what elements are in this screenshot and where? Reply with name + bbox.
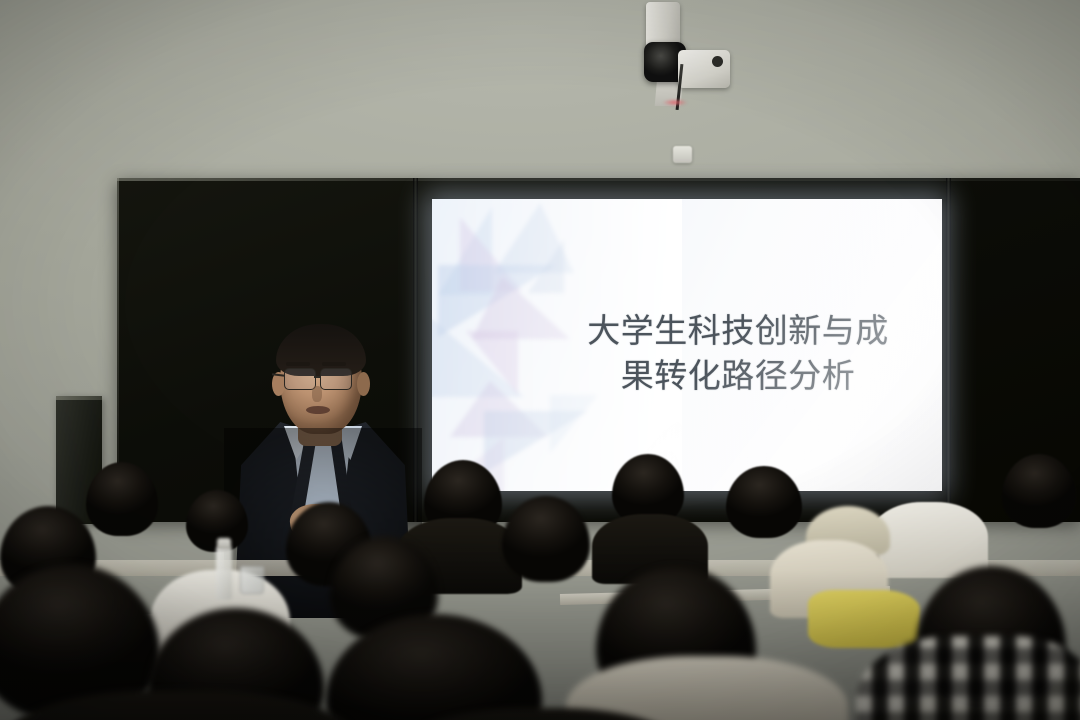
lecture-hall-photo: 大学生科技创新与成 果转化路径分析: [0, 0, 1080, 720]
wall-vignette: [0, 0, 1080, 720]
